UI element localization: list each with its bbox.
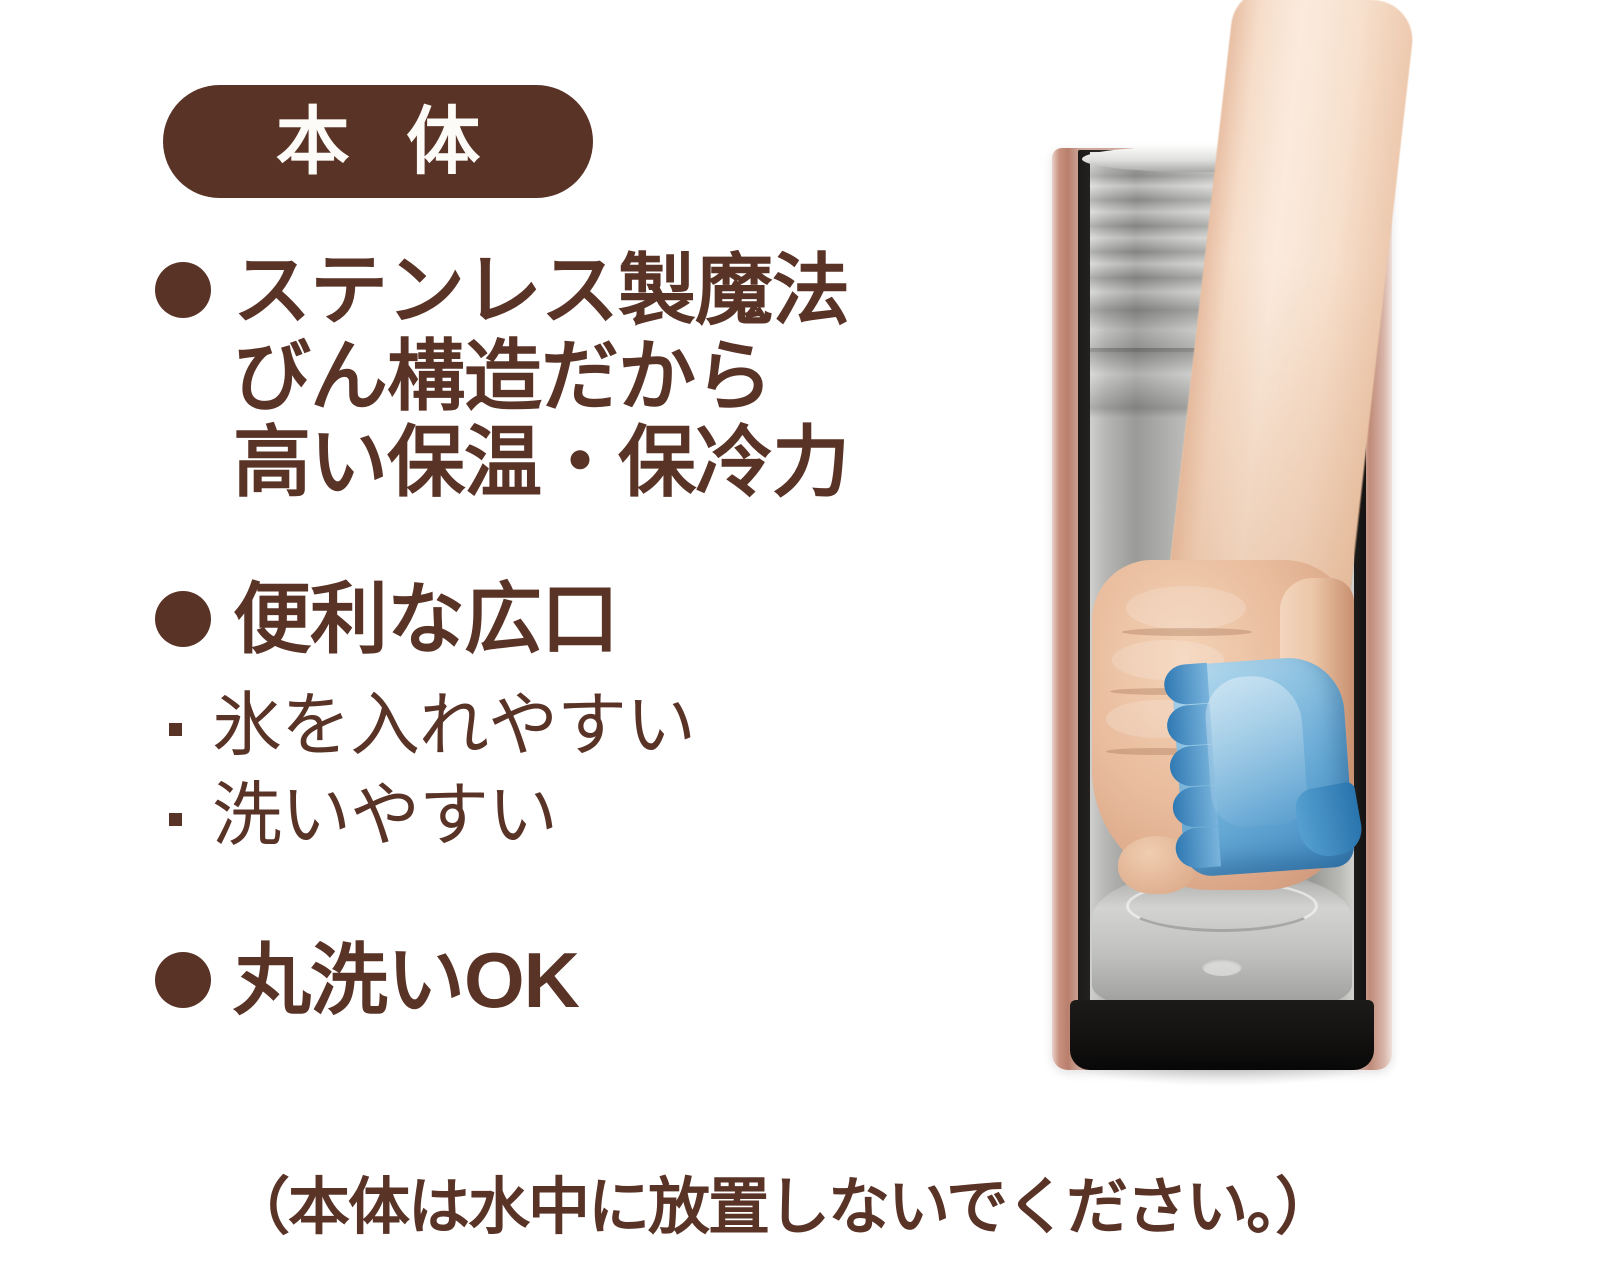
feature-main-2: 便利な広口: [155, 577, 985, 663]
feature-item-2: 便利な広口 氷を入れやすい 洗いやすい: [155, 577, 985, 860]
section-badge-label: 本 体: [258, 105, 499, 179]
feature-text-2: 便利な広口: [233, 577, 618, 663]
bullet-circle-icon: [155, 591, 211, 647]
bullet-square-icon: [169, 723, 182, 736]
feature-line: 丸洗いOK: [233, 938, 579, 1024]
feature-line: ステンレス製魔法: [233, 248, 849, 334]
feature-item-3: 丸洗いOK: [155, 938, 985, 1024]
feature-main-1: ステンレス製魔法 びん構造だから 高い保温・保冷力: [155, 248, 985, 505]
feature-line: びん構造だから: [233, 334, 849, 420]
sub-item-label: 洗いやすい: [212, 771, 557, 861]
feature-item-1: ステンレス製魔法 びん構造だから 高い保温・保冷力: [155, 248, 985, 505]
bullet-square-icon: [169, 813, 182, 826]
sub-item-label: 氷を入れやすい: [212, 681, 695, 771]
knuckle-highlight: [1126, 586, 1246, 630]
sub-item: 洗いやすい: [169, 771, 985, 861]
bottle-bottom-pip: [1202, 958, 1242, 976]
feature-subitems-2: 氷を入れやすい 洗いやすい: [169, 681, 985, 860]
spacer: [155, 860, 985, 938]
spacer: [155, 505, 985, 577]
product-feature-panel: 本 体 ステンレス製魔法 びん構造だから 高い保温・保冷力 便利な広口: [0, 0, 1600, 1280]
finger-crease: [1122, 628, 1252, 636]
bullet-circle-icon: [155, 952, 211, 1008]
sponge-scallop: [1163, 663, 1210, 706]
bullet-circle-icon: [155, 262, 211, 318]
section-badge: 本 体: [163, 85, 593, 198]
feature-main-3: 丸洗いOK: [155, 938, 985, 1024]
bottle-base: [1070, 1000, 1374, 1070]
feature-list: ステンレス製魔法 びん構造だから 高い保温・保冷力 便利な広口 氷を入れやすい: [155, 248, 985, 1024]
ground-shadow: [1070, 1062, 1376, 1086]
feature-text-3: 丸洗いOK: [233, 938, 579, 1024]
feature-text-1: ステンレス製魔法 びん構造だから 高い保温・保冷力: [233, 248, 849, 505]
sponge-scallop: [1174, 826, 1221, 869]
sub-item: 氷を入れやすい: [169, 681, 985, 771]
feature-line: 便利な広口: [233, 577, 618, 663]
product-photo: [1030, 0, 1420, 1100]
feature-line: 高い保温・保冷力: [233, 420, 849, 506]
footnote: （本体は水中に放置しないでください。）: [228, 1156, 1335, 1246]
